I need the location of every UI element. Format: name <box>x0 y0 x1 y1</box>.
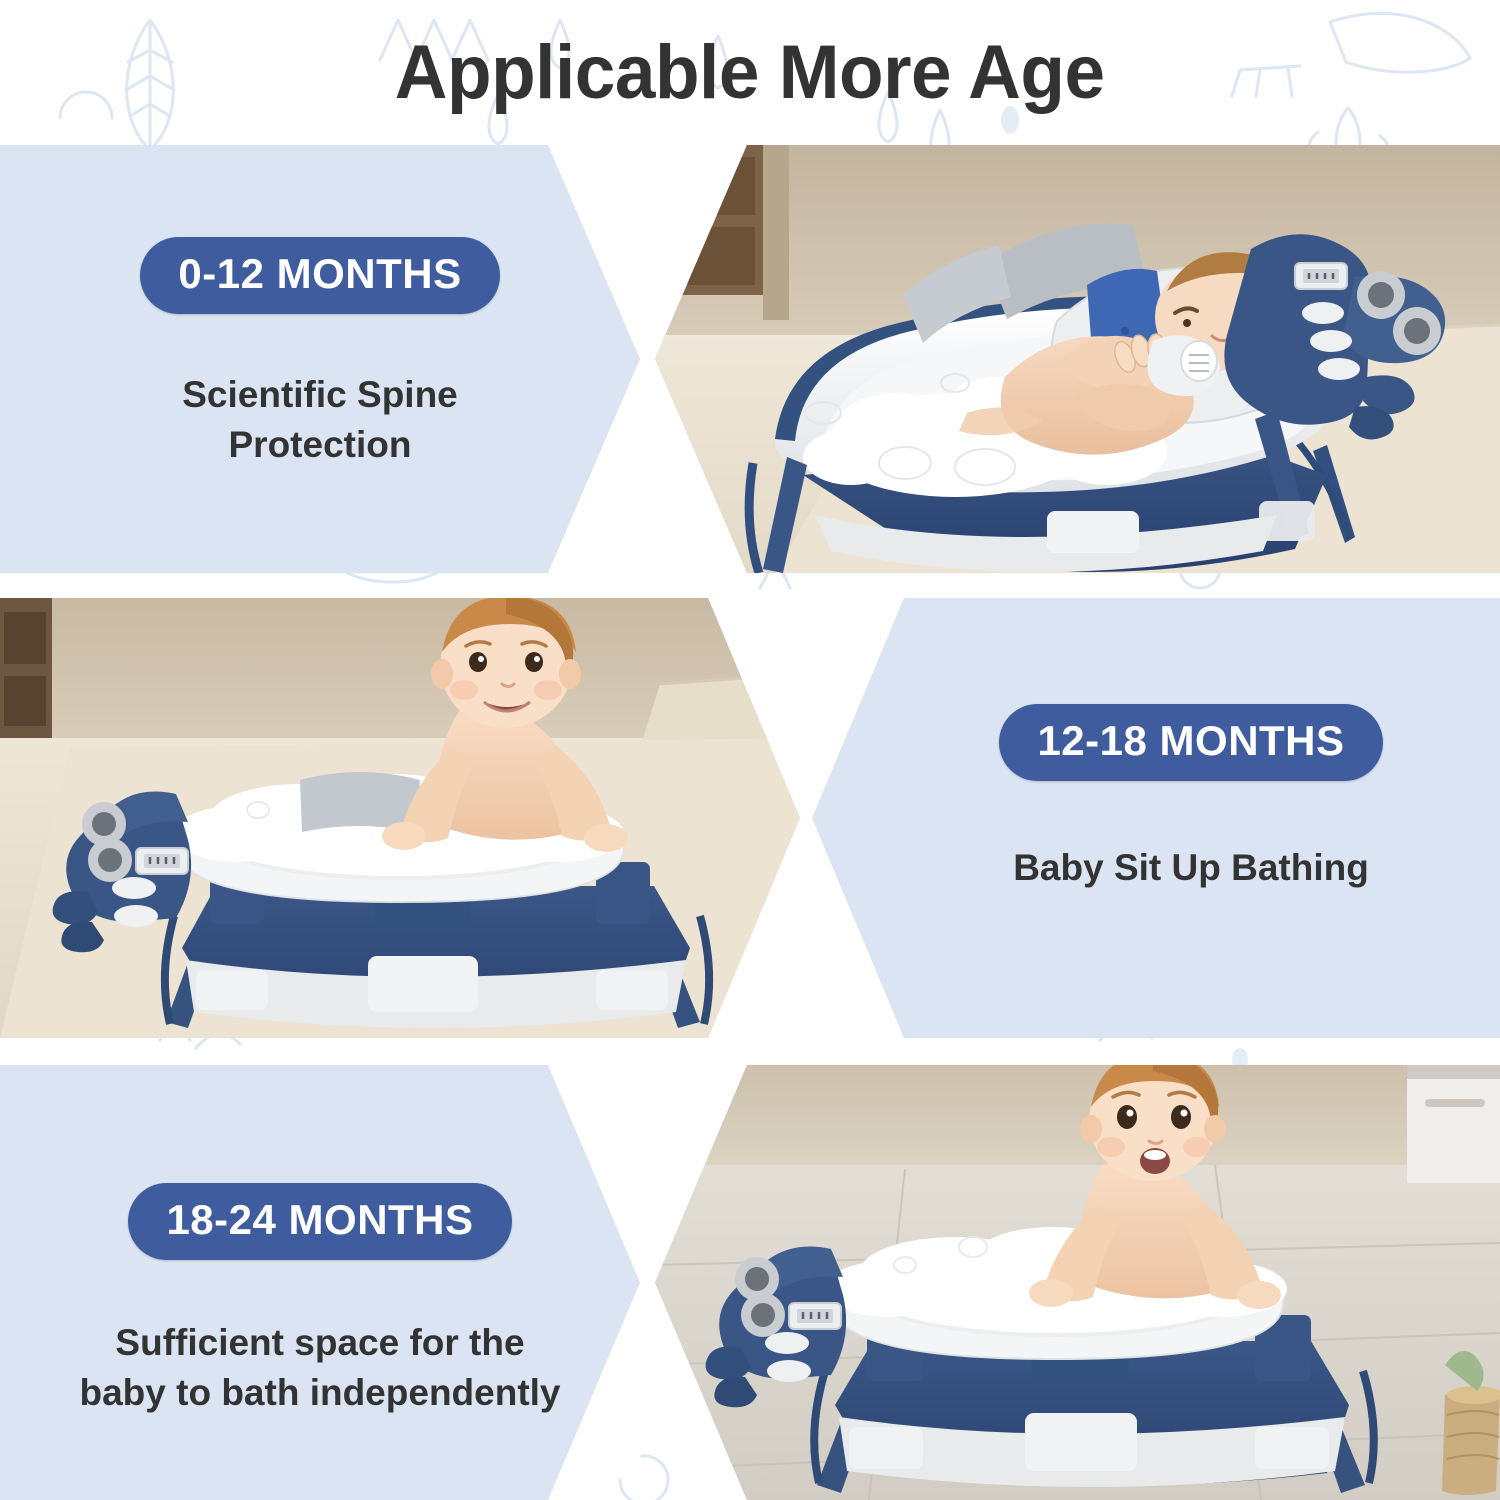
age-badge-12-18-months: 12-18 MONTHS <box>999 704 1382 781</box>
scene-living-room-floor <box>0 598 800 1038</box>
scene-bathroom-tile-floor <box>655 1065 1500 1500</box>
info-panel-18-24-months: 18-24 MONTHS Sufficient space for the ba… <box>0 1065 640 1500</box>
page-title-bar: Applicable More Age <box>0 0 1500 145</box>
page-title: Applicable More Age <box>395 29 1105 116</box>
product-photo-12-18-months <box>0 598 800 1038</box>
age-badge-0-12-months: 0-12 MONTHS <box>140 237 499 314</box>
age-description-0-12-months: Scientific Spine Protection <box>182 370 458 470</box>
age-badge-18-24-months: 18-24 MONTHS <box>128 1183 511 1260</box>
product-photo-0-12-months <box>655 145 1500 573</box>
age-description-18-24-months: Sufficient space for the baby to bath in… <box>79 1318 560 1418</box>
info-panel-12-18-months: 12-18 MONTHS Baby Sit Up Bathing <box>812 598 1500 1038</box>
info-panel-0-12-months: 0-12 MONTHS Scientific Spine Protection <box>0 145 640 573</box>
age-description-12-18-months: Baby Sit Up Bathing <box>1013 843 1369 893</box>
product-photo-18-24-months <box>655 1065 1500 1500</box>
section-row-18-24-months: 18-24 MONTHS Sufficient space for the ba… <box>0 1065 1500 1500</box>
section-row-12-18-months: 12-18 MONTHS Baby Sit Up Bathing <box>0 598 1500 1038</box>
section-row-0-12-months: 0-12 MONTHS Scientific Spine Protection <box>0 145 1500 573</box>
scene-bedroom-floor <box>655 145 1500 573</box>
